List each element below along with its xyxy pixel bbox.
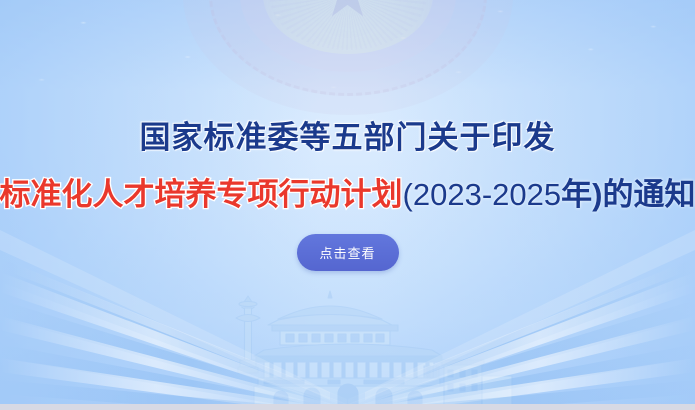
page-title-line-1: 国家标准委等五部门关于印发	[140, 122, 556, 153]
policy-announcement-banner: 国家标准委等五部门关于印发 标准化人才培养专项行动计划(2023-2025年)的…	[0, 0, 695, 410]
page-title-suffix: )的通知	[592, 177, 695, 212]
view-detail-button[interactable]: 点击查看	[297, 234, 399, 271]
page-title-year-range: (2023-2025	[403, 177, 562, 212]
page-title-year-char: 年	[561, 177, 592, 212]
page-title-line-2: 标准化人才培养专项行动计划(2023-2025年)的通知	[0, 179, 695, 210]
page-title-policy-name: 标准化人才培养专项行动计划	[0, 177, 403, 212]
banner-content: 国家标准委等五部门关于印发 标准化人才培养专项行动计划(2023-2025年)的…	[0, 0, 695, 410]
